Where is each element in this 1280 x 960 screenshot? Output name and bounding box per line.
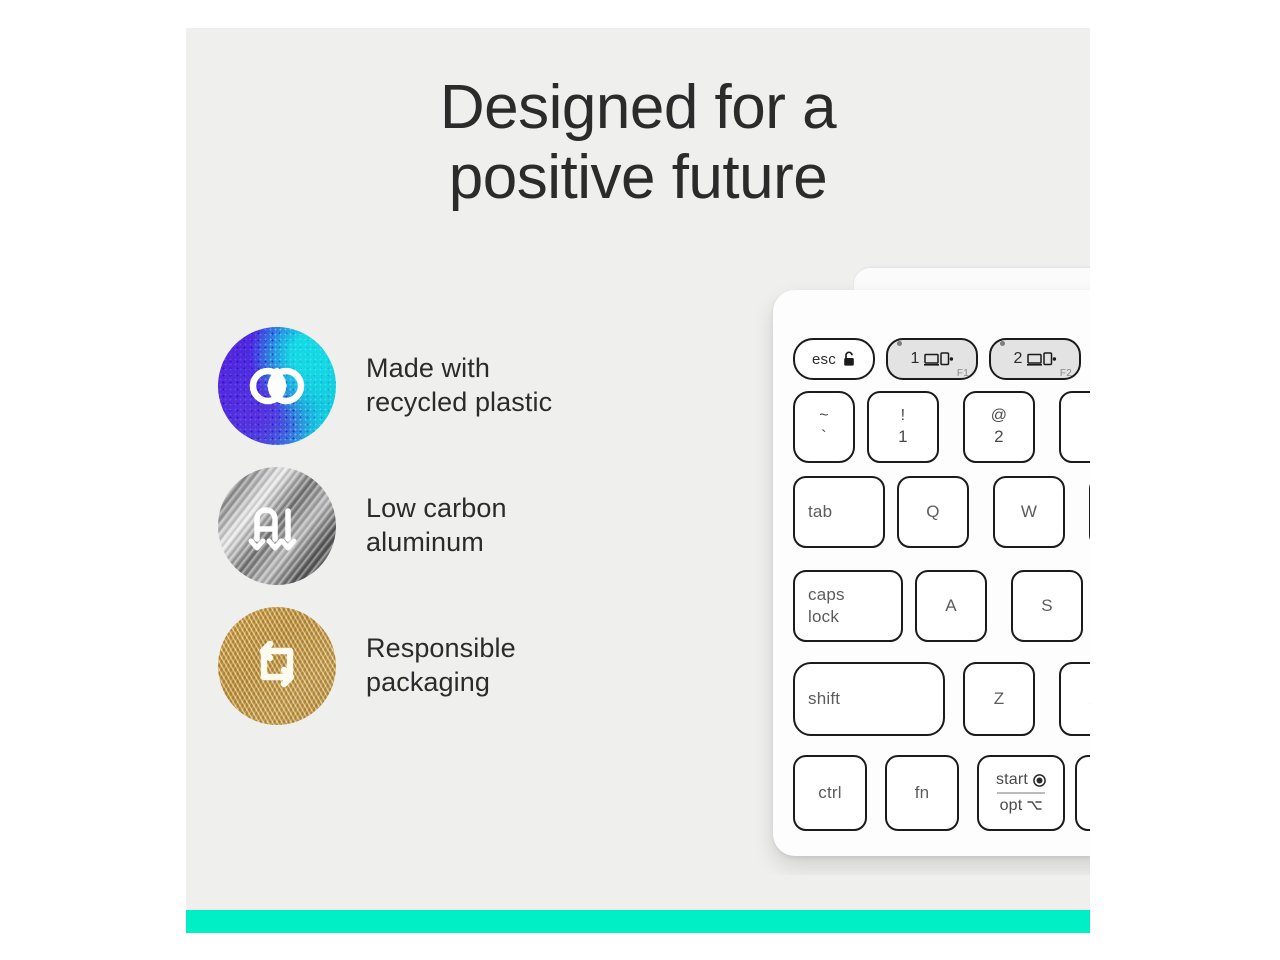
feature-item-recycled-plastic: Made with recycled plastic: [218, 316, 638, 456]
lock-icon: [842, 351, 856, 367]
key-backtick[interactable]: ~ `: [793, 391, 855, 463]
low-carbon-aluminum-icon: [218, 467, 336, 585]
key-divider: [997, 792, 1046, 793]
key-label: X: [1089, 689, 1090, 709]
option-icon: [1027, 800, 1042, 811]
key-shifted-label: !: [901, 405, 906, 426]
key-f2-device-switch[interactable]: 2 F2: [989, 338, 1081, 380]
key-tab[interactable]: tab: [793, 476, 885, 548]
key-3[interactable]: # 3: [1059, 391, 1090, 463]
key-a[interactable]: A: [915, 570, 987, 642]
key-ctrl[interactable]: ctrl: [793, 755, 867, 831]
key-shifted-label: ~: [819, 405, 829, 426]
key-fn[interactable]: fn: [885, 755, 959, 831]
key-e[interactable]: E: [1089, 476, 1090, 548]
page-title: Designed for a positive future: [186, 73, 1090, 213]
key-label: tab: [808, 502, 832, 522]
windows-start-icon: [1033, 774, 1046, 787]
key-label: 1: [898, 426, 908, 448]
key-label: W: [1021, 502, 1037, 522]
key-label: caps lock: [795, 584, 901, 629]
key-label: start: [996, 771, 1028, 789]
keyboard-keys: esc 1 F1: [773, 290, 1090, 856]
key-label: esc: [812, 351, 836, 368]
key-label: 2: [994, 426, 1004, 448]
key-f1-device-switch[interactable]: 1 F1: [886, 338, 978, 380]
key-label: A: [945, 596, 957, 616]
key-number: 1: [910, 350, 919, 368]
accent-bar: [186, 910, 1090, 933]
key-label: shift: [808, 689, 840, 709]
key-shifted-label: @: [991, 405, 1007, 426]
feature-label: Responsible packaging: [366, 632, 516, 700]
key-q[interactable]: Q: [897, 476, 969, 548]
key-fn-tag: F2: [1060, 368, 1072, 379]
responsible-packaging-icon: [218, 607, 336, 725]
key-cmd[interactable]: cmd: [1075, 755, 1090, 831]
key-label: opt: [1000, 797, 1023, 815]
key-z[interactable]: Z: [963, 662, 1035, 736]
key-label: Q: [926, 502, 939, 522]
key-number: 2: [1013, 350, 1022, 368]
key-x[interactable]: X: [1059, 662, 1090, 736]
key-shift[interactable]: shift: [793, 662, 945, 736]
device-indicator-dot: [897, 341, 902, 346]
keyboard-product-photo: esc 1 F1: [755, 255, 1090, 875]
key-s[interactable]: S: [1011, 570, 1083, 642]
recycled-plastic-icon: [218, 327, 336, 445]
key-2[interactable]: @ 2: [963, 391, 1035, 463]
key-label: S: [1041, 596, 1053, 616]
key-start-opt[interactable]: start opt: [977, 755, 1065, 831]
key-1[interactable]: ! 1: [867, 391, 939, 463]
key-label: fn: [915, 783, 930, 803]
key-w[interactable]: W: [993, 476, 1065, 548]
feature-label: Low carbon aluminum: [366, 492, 507, 560]
key-fn-tag: F1: [957, 368, 969, 379]
feature-label: Made with recycled plastic: [366, 352, 552, 420]
key-label: Z: [994, 689, 1005, 709]
device-switch-icon: [1027, 351, 1057, 367]
product-marketing-image: Designed for a positive future Made with…: [0, 0, 1280, 960]
feature-item-responsible-packaging: Responsible packaging: [218, 596, 638, 736]
key-esc[interactable]: esc: [793, 338, 875, 380]
key-label: `: [821, 426, 827, 448]
device-indicator-dot: [1000, 341, 1005, 346]
feature-item-low-carbon-aluminum: Low carbon aluminum: [218, 456, 638, 596]
device-switch-icon: [924, 351, 954, 367]
key-caps-lock[interactable]: caps lock: [793, 570, 903, 642]
key-label: ctrl: [818, 783, 841, 803]
feature-list: Made with recycled plastic: [218, 316, 638, 736]
